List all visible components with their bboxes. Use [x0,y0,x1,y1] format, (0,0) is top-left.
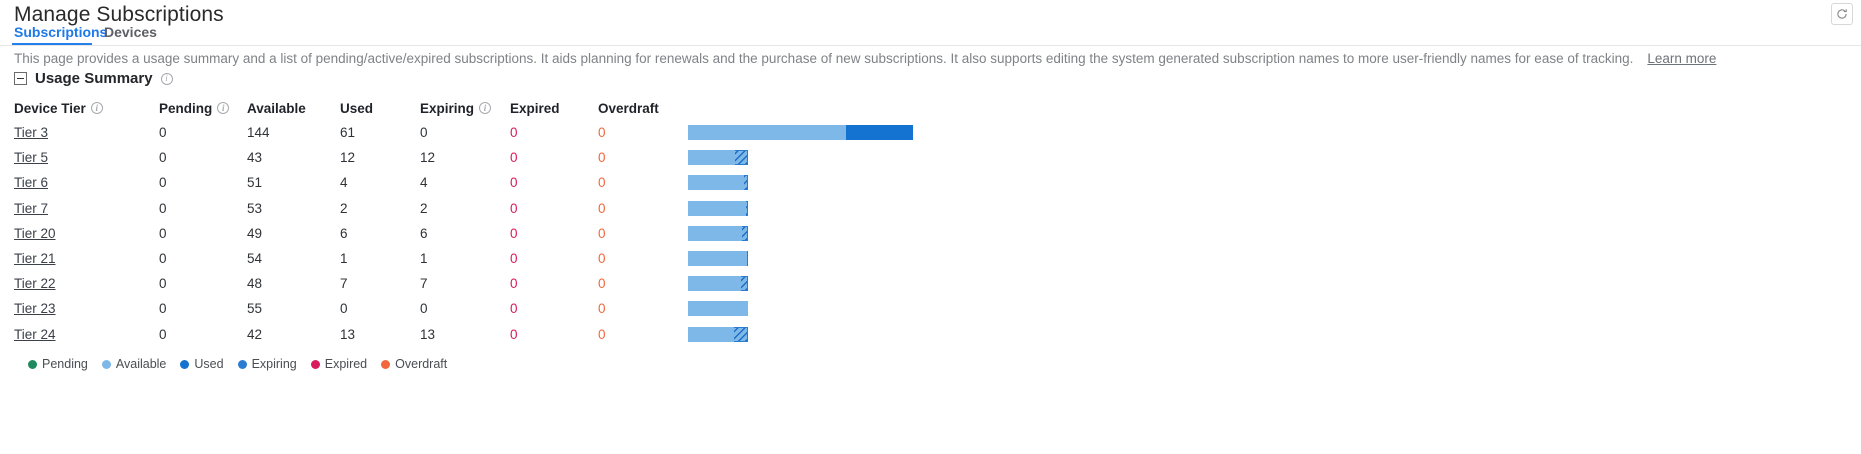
table-row: Tier 210541100 [14,246,913,271]
usage-bar-expiring-segment [742,226,749,241]
expiring-info-icon[interactable]: i [479,102,491,114]
table-row: Tier 3014461000 [14,120,913,145]
table-row: Tier 60514400 [14,170,913,195]
table-cell-expired: 0 [510,125,598,140]
manage-subscriptions-page: Manage Subscriptions Subscriptions Devic… [0,0,1861,454]
pending-info-icon[interactable]: i [217,102,229,114]
table-cell-expired: 0 [510,175,598,190]
table-cell-pending: 0 [159,150,247,165]
legend-item-expired[interactable]: Expired [311,357,367,371]
table-cell-device-tier: Tier 6 [14,175,159,190]
usage-bar [688,301,913,316]
table-cell-overdraft: 0 [598,201,676,216]
tab-divider [0,45,1861,46]
legend-item-used[interactable]: Used [180,357,223,371]
usage-bar-expiring-segment [734,327,748,342]
usage-bar-expiring-segment [747,251,748,266]
table-cell-used: 0 [340,301,420,316]
usage-bar [688,201,913,216]
table-cell-expired: 0 [510,201,598,216]
column-header-pending: Pending i [159,101,247,116]
table-row: Tier 24042131300 [14,322,913,347]
usage-bar [688,327,913,342]
device-tier-link[interactable]: Tier 5 [14,150,48,165]
table-cell-expired: 0 [510,226,598,241]
table-cell-available: 49 [247,226,340,241]
device-tier-link[interactable]: Tier 23 [14,301,56,316]
table-cell-device-tier: Tier 22 [14,276,159,291]
usage-bar [688,276,913,291]
legend-item-label: Expiring [252,357,297,371]
collapse-minus-icon[interactable] [14,72,27,85]
device-tier-link[interactable]: Tier 24 [14,327,56,342]
legend-swatch-icon [28,360,37,369]
table-body: Tier 3014461000Tier 5043121200Tier 60514… [14,120,913,347]
legend-item-overdraft[interactable]: Overdraft [381,357,447,371]
table-cell-overdraft: 0 [598,276,676,291]
table-cell-pending: 0 [159,327,247,342]
table-cell-expiring: 12 [420,150,510,165]
table-cell-used: 13 [340,327,420,342]
usage-summary-title: Usage Summary [35,70,153,87]
usage-bar [688,125,913,140]
table-cell-device-tier: Tier 24 [14,327,159,342]
device-tier-link[interactable]: Tier 21 [14,251,56,266]
usage-bar-expiring-segment [735,150,748,165]
legend-item-label: Overdraft [395,357,447,371]
column-header-pending-label: Pending [159,101,212,116]
device-tier-link[interactable]: Tier 3 [14,125,48,140]
column-header-expiring: Expiring i [420,101,510,116]
table-cell-expired: 0 [510,327,598,342]
usage-bar [688,251,913,266]
table-row: Tier 200496600 [14,221,913,246]
column-header-device-tier: Device Tier i [14,101,159,116]
table-cell-overdraft: 0 [598,175,676,190]
table-cell-expiring: 4 [420,175,510,190]
legend-swatch-icon [102,360,111,369]
table-cell-expiring: 2 [420,201,510,216]
legend-item-expiring[interactable]: Expiring [238,357,297,371]
column-header-overdraft: Overdraft [598,101,676,116]
table-cell-used: 61 [340,125,420,140]
column-header-device-tier-label: Device Tier [14,101,86,116]
legend-item-pending[interactable]: Pending [28,357,88,371]
legend-item-label: Used [194,357,223,371]
legend-swatch-icon [311,360,320,369]
table-cell-used: 4 [340,175,420,190]
table-cell-available: 48 [247,276,340,291]
table-header-row: Device Tier i Pending i Available Used E… [14,96,913,120]
table-cell-expiring: 1 [420,251,510,266]
table-row: Tier 5043121200 [14,145,913,170]
legend-item-available[interactable]: Available [102,357,167,371]
table-cell-overdraft: 0 [598,251,676,266]
table-cell-overdraft: 0 [598,125,676,140]
usage-bar [688,150,913,165]
table-cell-expired: 0 [510,150,598,165]
table-cell-pending: 0 [159,201,247,216]
table-cell-expiring: 13 [420,327,510,342]
page-description-text: This page provides a usage summary and a… [14,51,1633,66]
table-cell-expiring: 7 [420,276,510,291]
table-cell-overdraft: 0 [598,301,676,316]
legend-item-label: Pending [42,357,88,371]
device-tier-link[interactable]: Tier 20 [14,226,56,241]
usage-bar-expiring-segment [746,201,748,216]
table-cell-device-tier: Tier 3 [14,125,159,140]
table-row: Tier 220487700 [14,271,913,296]
usage-bar-available-segment [688,301,748,316]
page-description: This page provides a usage summary and a… [14,50,1716,68]
table-cell-pending: 0 [159,276,247,291]
table-cell-device-tier: Tier 7 [14,201,159,216]
table-row: Tier 70532200 [14,196,913,221]
table-cell-used: 12 [340,150,420,165]
table-cell-overdraft: 0 [598,327,676,342]
table-cell-expired: 0 [510,276,598,291]
table-cell-used: 2 [340,201,420,216]
table-cell-available: 144 [247,125,340,140]
table-cell-used: 1 [340,251,420,266]
legend-item-label: Expired [325,357,367,371]
column-header-available: Available [247,101,340,116]
chart-legend: PendingAvailableUsedExpiringExpiredOverd… [28,357,447,371]
table-cell-available: 53 [247,201,340,216]
table-cell-overdraft: 0 [598,226,676,241]
column-header-expiring-label: Expiring [420,101,474,116]
table-cell-pending: 0 [159,226,247,241]
table-cell-available: 43 [247,150,340,165]
device-tier-link[interactable]: Tier 7 [14,201,48,216]
usage-bar-available-segment [688,276,748,291]
table-cell-available: 54 [247,251,340,266]
table-cell-available: 51 [247,175,340,190]
device-tier-link[interactable]: Tier 6 [14,175,48,190]
refresh-icon[interactable] [1831,3,1853,25]
info-icon[interactable]: i [161,73,173,85]
usage-summary-table: Device Tier i Pending i Available Used E… [14,96,913,347]
table-cell-pending: 0 [159,125,247,140]
table-cell-available: 42 [247,327,340,342]
tab-devices[interactable]: Devices [104,24,157,46]
usage-bar-available-segment [688,201,748,216]
table-cell-available: 55 [247,301,340,316]
device-tier-info-icon[interactable]: i [91,102,103,114]
table-cell-used: 6 [340,226,420,241]
table-cell-expiring: 6 [420,226,510,241]
usage-bar-expiring-segment [744,175,748,190]
device-tier-link[interactable]: Tier 22 [14,276,56,291]
legend-item-label: Available [116,357,167,371]
table-cell-expired: 0 [510,251,598,266]
legend-swatch-icon [381,360,390,369]
usage-bar-available-segment [688,226,748,241]
table-cell-device-tier: Tier 20 [14,226,159,241]
usage-bar-used-segment [846,125,913,140]
table-row: Tier 230550000 [14,296,913,321]
table-cell-expiring: 0 [420,301,510,316]
learn-more-link[interactable]: Learn more [1647,51,1716,66]
table-cell-device-tier: Tier 5 [14,150,159,165]
table-cell-used: 7 [340,276,420,291]
usage-bar-available-segment [688,251,748,266]
column-header-expired: Expired [510,101,598,116]
usage-bar-available-segment [688,175,748,190]
usage-bar [688,175,913,190]
table-cell-device-tier: Tier 23 [14,301,159,316]
table-cell-overdraft: 0 [598,150,676,165]
table-cell-device-tier: Tier 21 [14,251,159,266]
legend-swatch-icon [238,360,247,369]
table-cell-pending: 0 [159,251,247,266]
legend-swatch-icon [180,360,189,369]
column-header-used: Used [340,101,420,116]
usage-summary-header: Usage Summary i [14,70,173,87]
usage-bar [688,226,913,241]
table-cell-expiring: 0 [420,125,510,140]
table-cell-expired: 0 [510,301,598,316]
table-cell-pending: 0 [159,301,247,316]
tab-bar: Subscriptions Devices [0,24,1861,46]
table-cell-pending: 0 [159,175,247,190]
usage-bar-expiring-segment [741,276,749,291]
